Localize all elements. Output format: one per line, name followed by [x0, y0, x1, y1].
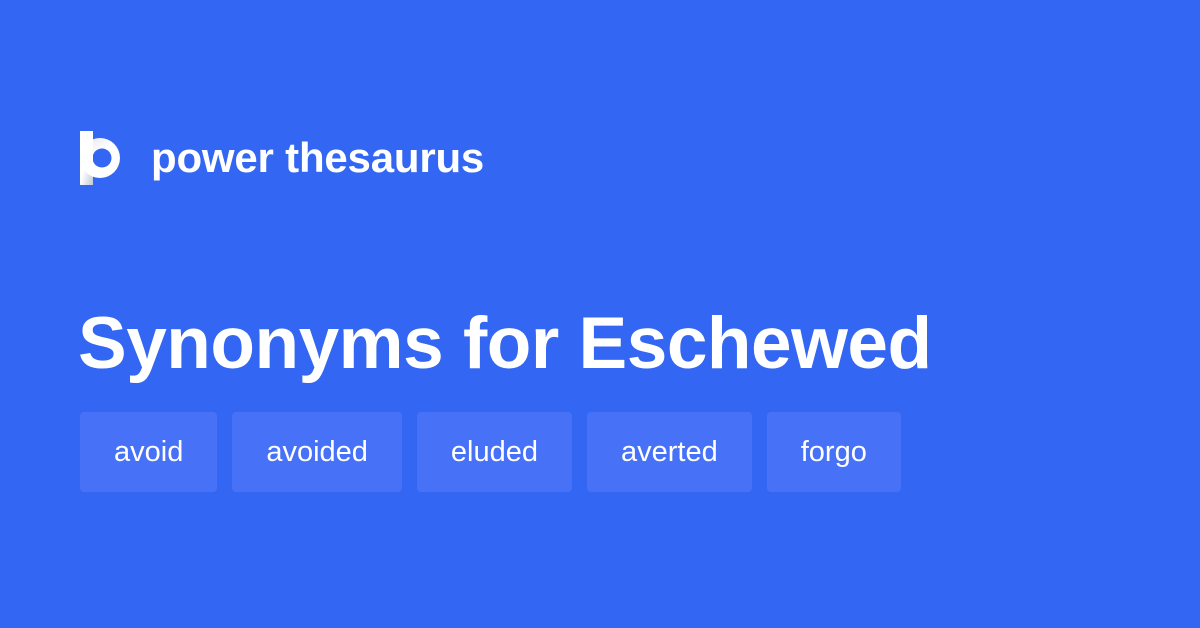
synonym-chip[interactable]: avoid: [80, 412, 217, 492]
synonym-chip[interactable]: forgo: [767, 412, 901, 492]
power-thesaurus-b-logo-icon: [80, 131, 126, 185]
brand-name: power thesaurus: [151, 137, 484, 179]
synonym-chip-label: forgo: [801, 438, 867, 467]
synonym-chip[interactable]: eluded: [417, 412, 572, 492]
synonym-chip-label: avoided: [266, 438, 368, 467]
brand-lockup: power thesaurus: [80, 126, 484, 190]
synonym-chip-list: avoid avoided eluded averted forgo: [80, 412, 901, 492]
synonym-chip-label: avoid: [114, 438, 183, 467]
synonym-chip-label: eluded: [451, 438, 538, 467]
synonym-chip[interactable]: avoided: [232, 412, 402, 492]
social-share-card: power thesaurus Synonyms for Eschewed av…: [0, 0, 1200, 628]
synonym-chip-label: averted: [621, 438, 718, 467]
page-title: Synonyms for Eschewed: [78, 301, 932, 387]
synonym-chip[interactable]: averted: [587, 412, 752, 492]
